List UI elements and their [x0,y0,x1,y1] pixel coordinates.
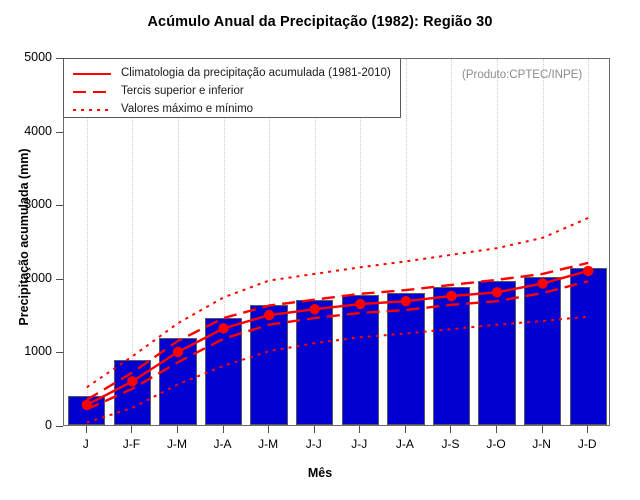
data-point-marker [264,310,274,320]
x-tick-label: J-M [246,437,290,451]
x-tick-label: J-J [337,437,381,451]
x-tick [131,426,132,433]
x-tick-label: J-O [474,437,518,451]
legend-label-tercis: Tercis superior e inferior [121,85,244,97]
x-tick-label: J-D [565,437,609,451]
x-tick [86,426,87,433]
data-point-marker [401,296,411,306]
legend-key-solid-icon [71,67,113,79]
x-tick-label: J-A [201,437,245,451]
y-tick-label: 0 [0,418,52,432]
y-tick-label: 4000 [0,124,52,138]
y-tick-label: 2000 [0,271,52,285]
data-point-marker [127,376,137,386]
line-climatology [87,271,588,405]
x-tick-label: J [64,437,108,451]
legend: Climatologia da precipitação acumulada (… [63,58,401,118]
x-tick [223,426,224,433]
y-tick [56,426,63,427]
data-point-marker [537,278,547,288]
data-point-marker [310,304,320,314]
legend-key-dotted-icon [71,103,113,115]
data-point-marker [583,266,593,276]
x-tick-label: J-M [155,437,199,451]
x-tick [359,426,360,433]
y-tick [56,205,63,206]
y-tick-label: 5000 [0,50,52,64]
legend-label-extremos: Valores máximo e mínimo [121,103,253,115]
legend-item: Climatologia da precipitação acumulada (… [71,65,393,81]
x-tick [314,426,315,433]
x-tick-label: J-N [520,437,564,451]
y-tick [56,58,63,59]
x-tick [268,426,269,433]
line-line-dotted [87,317,588,423]
legend-key-dashed-icon [71,85,113,97]
y-tick [56,352,63,353]
x-tick [405,426,406,433]
line-line-dashed [87,263,588,400]
data-point-marker [82,400,92,410]
data-point-marker [218,323,228,333]
y-tick [56,279,63,280]
y-tick-label: 3000 [0,197,52,211]
x-tick [496,426,497,433]
legend-item: Tercis superior e inferior [71,83,393,99]
x-tick [542,426,543,433]
x-tick-label: J-A [383,437,427,451]
x-tick [587,426,588,433]
x-tick-label: J-S [428,437,472,451]
x-tick [450,426,451,433]
x-tick [177,426,178,433]
x-axis-title: Mês [0,466,640,480]
line-line-dashed [87,281,588,409]
data-point-marker [173,347,183,357]
chart-root: Acúmulo Anual da Precipitação (1982): Re… [0,0,640,500]
data-point-marker [355,299,365,309]
produto-credit: (Produto:CPTEC/INPE) [462,69,582,81]
y-tick-label: 1000 [0,344,52,358]
legend-label-climatology: Climatologia da precipitação acumulada (… [121,67,391,79]
page-title: Acúmulo Anual da Precipitação (1982): Re… [0,14,640,30]
x-tick-label: J-J [292,437,336,451]
legend-item: Valores máximo e mínimo [71,101,393,117]
data-point-marker [446,291,456,301]
x-tick-label: J-F [109,437,153,451]
y-tick [56,132,63,133]
data-point-marker [492,287,502,297]
